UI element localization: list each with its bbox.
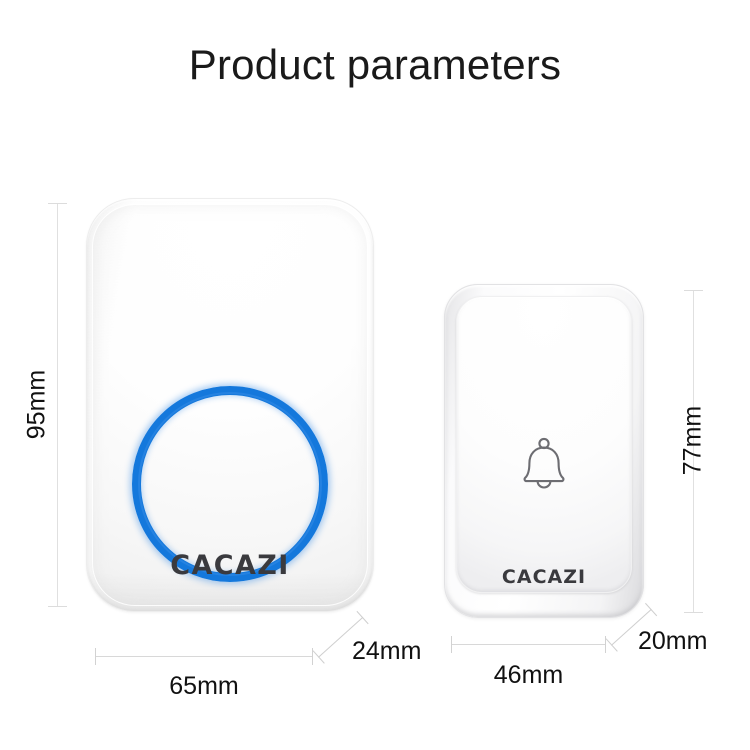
receiver-brand-logo: CACAZI <box>87 550 373 581</box>
dimension-cap <box>684 290 703 291</box>
doorbell-push-button: CACAZI <box>444 284 644 618</box>
dimension-cap <box>313 650 325 663</box>
dimension-cap <box>684 612 703 613</box>
bell-icon <box>516 436 572 494</box>
led-ring-glow <box>138 392 322 576</box>
dimension-cap <box>48 203 67 204</box>
receiver-height-dimension-line <box>57 203 58 607</box>
product-parameters-page: Product parameters CACAZI 95mm 65mm 24mm <box>0 0 750 750</box>
push-button-brand-logo: CACAZI <box>444 566 644 588</box>
dimension-cap <box>356 611 368 624</box>
page-title: Product parameters <box>0 44 750 86</box>
dimension-cap <box>451 636 452 653</box>
push-button-width-dimension-line <box>451 644 606 645</box>
push-button-depth-label: 20mm <box>638 629 707 654</box>
push-button-width-label: 46mm <box>451 663 606 688</box>
doorbell-receiver: CACAZI <box>86 198 374 612</box>
push-button-height-label: 77mm <box>681 396 706 486</box>
receiver-width-label: 65mm <box>95 674 313 699</box>
receiver-depth-label: 24mm <box>352 639 421 664</box>
dimension-cap <box>645 603 657 616</box>
dimension-cap <box>48 606 67 607</box>
dimension-cap <box>606 638 618 651</box>
receiver-width-dimension-line <box>95 656 313 657</box>
receiver-height-label: 95mm <box>25 360 50 450</box>
dimension-cap <box>95 648 96 665</box>
